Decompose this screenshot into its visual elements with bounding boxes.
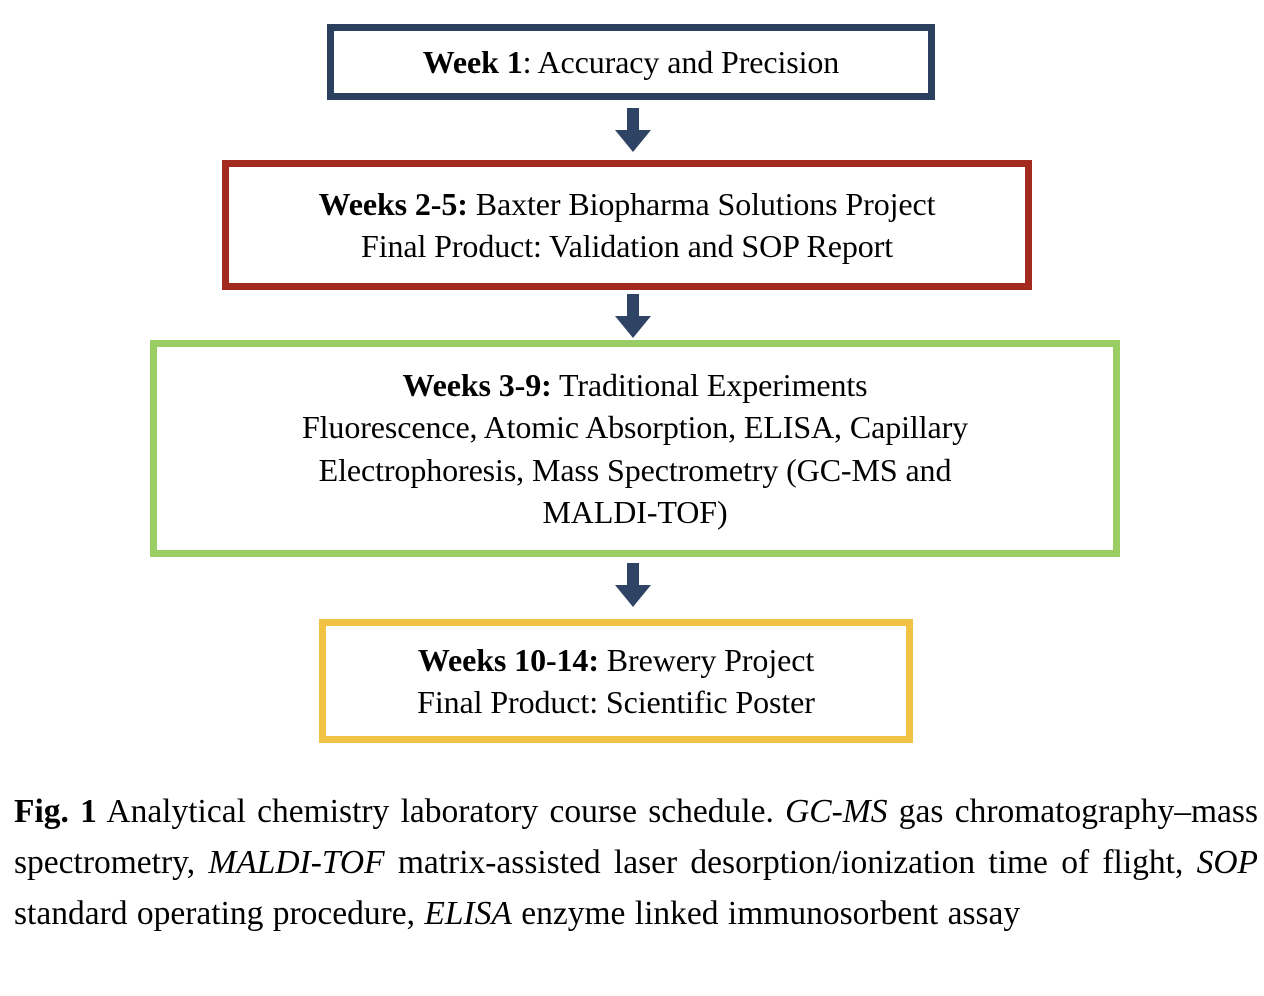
flow-box-rest: Final Product: Validation and SOP Report — [361, 228, 893, 264]
arrow-down-icon — [610, 108, 656, 154]
flow-box-line: Weeks 3-9: Traditional Experiments — [402, 364, 867, 406]
flow-box-rest: Fluorescence, Atomic Absorption, ELISA, … — [302, 409, 968, 445]
flow-box-line: Weeks 2-5: Baxter Biopharma Solutions Pr… — [319, 183, 936, 225]
flow-box-weeks-2-5: Weeks 2-5: Baxter Biopharma Solutions Pr… — [222, 160, 1032, 290]
figure-caption-abbr-elisa: ELISA — [424, 895, 511, 932]
figure-caption-label: Fig. 1 — [14, 793, 97, 830]
arrow-down-icon — [610, 294, 656, 340]
figure-caption: Fig. 1 Analytical chemistry laboratory c… — [14, 786, 1258, 939]
flow-box-rest: : Accuracy and Precision — [523, 44, 840, 80]
flow-box-line: Final Product: Validation and SOP Report — [361, 225, 893, 267]
flow-box-weeks-3-9: Weeks 3-9: Traditional Experiments Fluor… — [150, 340, 1120, 557]
figure-caption-text-4: standard operating procedure, — [14, 895, 424, 932]
flow-box-weeks-10-14: Weeks 10-14: Brewery Project Final Produ… — [319, 619, 913, 743]
flow-box-line: Week 1: Accuracy and Precision — [423, 41, 839, 83]
flow-box-lead: Weeks 3-9: — [402, 367, 551, 403]
figure-caption-text-3: matrix-assisted laser desorption/ionizat… — [385, 844, 1197, 881]
figure-caption-text-1: Analytical chemistry laboratory course s… — [97, 793, 785, 830]
flow-box-week-1: Week 1: Accuracy and Precision — [327, 24, 935, 100]
figure-flowchart: Week 1: Accuracy and Precision Weeks 2-5… — [0, 0, 1264, 770]
flow-box-rest: Electrophoresis, Mass Spectrometry (GC-M… — [319, 452, 952, 488]
flow-box-rest: Traditional Experiments — [552, 367, 868, 403]
flow-box-lead: Weeks 10-14: — [418, 642, 599, 678]
flow-box-rest: Final Product: Scientific Poster — [417, 684, 815, 720]
figure-caption-text-5: enzyme linked immunosorbent assay — [512, 895, 1020, 932]
flow-box-lead: Week 1 — [423, 44, 523, 80]
figure-caption-abbr-sop: SOP — [1197, 844, 1258, 881]
flow-box-rest: Baxter Biopharma Solutions Project — [468, 186, 936, 222]
flow-box-line: Electrophoresis, Mass Spectrometry (GC-M… — [319, 449, 952, 491]
flow-box-line: Fluorescence, Atomic Absorption, ELISA, … — [302, 406, 968, 448]
flow-box-line: Weeks 10-14: Brewery Project — [418, 639, 814, 681]
figure-caption-abbr-maldi-tof: MALDI-TOF — [208, 844, 384, 881]
flow-box-rest: MALDI-TOF) — [542, 494, 727, 530]
figure-caption-abbr-gc-ms: GC-MS — [785, 793, 887, 830]
flow-box-line: Final Product: Scientific Poster — [417, 681, 815, 723]
arrow-down-icon — [610, 563, 656, 609]
flow-box-line: MALDI-TOF) — [542, 491, 727, 533]
flow-box-rest: Brewery Project — [599, 642, 814, 678]
flow-box-lead: Weeks 2-5: — [319, 186, 468, 222]
